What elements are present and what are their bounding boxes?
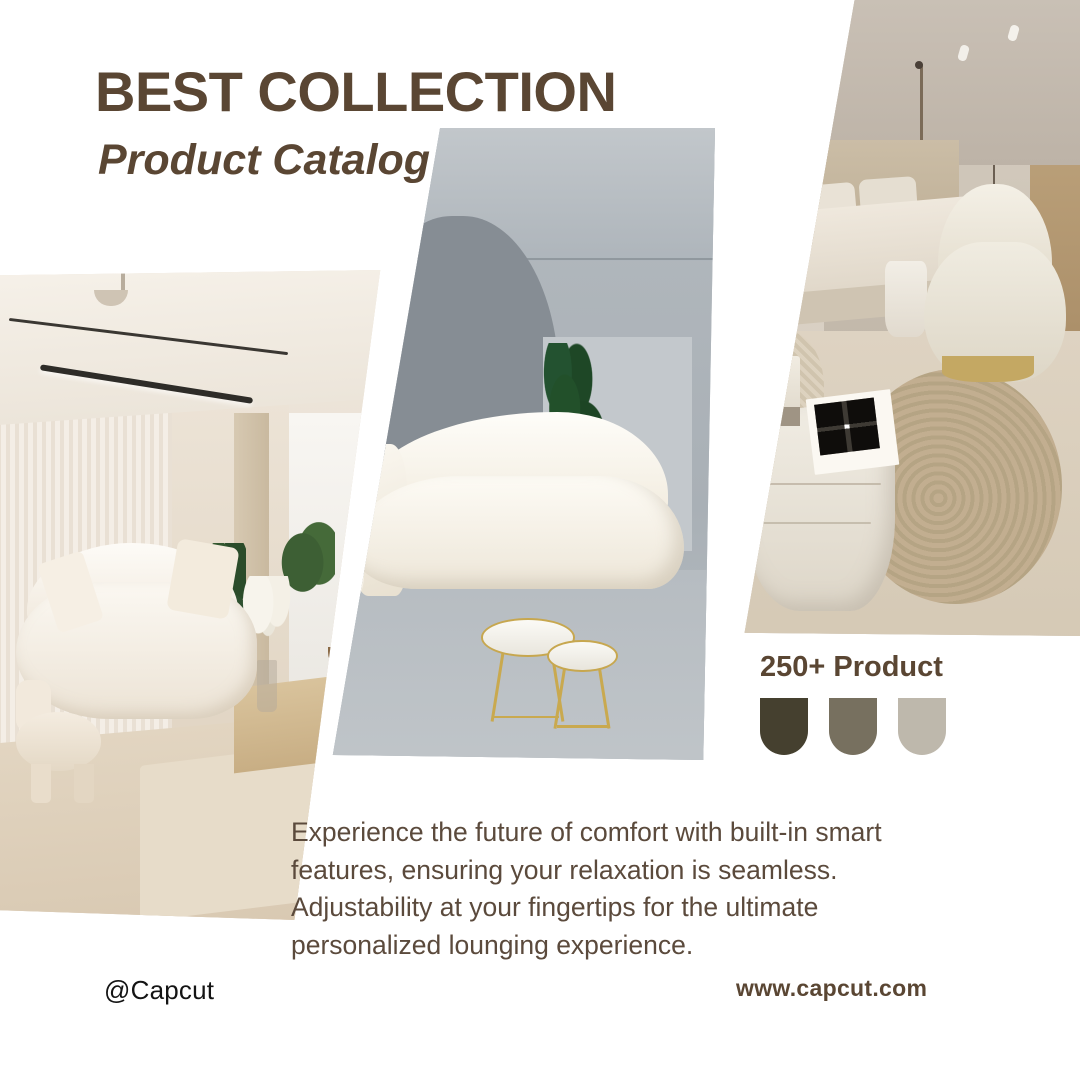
book-cover-grid — [814, 397, 880, 455]
color-swatch-dark-olive-brown[interactable] — [760, 698, 808, 755]
color-swatch-group — [760, 698, 946, 755]
color-swatch-warm-taupe[interactable] — [829, 698, 877, 755]
website-url[interactable]: www.capcut.com — [736, 975, 927, 1002]
vase-band — [771, 407, 799, 426]
gallery-image-bedroom — [725, 0, 1080, 636]
page-title: BEST COLLECTION — [95, 64, 616, 120]
page-subtitle: Product Catalog — [98, 137, 430, 184]
round-stool — [16, 712, 102, 771]
chair-base — [942, 356, 1034, 381]
marble-coffee-table-small — [547, 640, 617, 672]
studio-scene — [325, 128, 715, 760]
stone-texture-line — [757, 522, 871, 524]
pendant-rod — [121, 270, 125, 292]
pendant-mount — [915, 61, 923, 69]
gallery-image-studio-sofa — [325, 128, 715, 760]
table-base — [557, 725, 608, 728]
stool-leg — [31, 764, 51, 803]
description-paragraph: Experience the future of comfort with bu… — [291, 814, 956, 965]
social-handle: @Capcut — [104, 975, 214, 1006]
color-swatch-light-greige[interactable] — [898, 698, 946, 755]
curved-sofa — [352, 476, 684, 590]
floor — [325, 570, 715, 760]
table-base — [493, 716, 559, 719]
side-stool — [885, 261, 928, 337]
dried-bud — [792, 280, 802, 288]
ceiling — [0, 270, 390, 426]
cushion — [166, 538, 240, 619]
dried-branch — [781, 286, 792, 368]
bedroom-scene — [725, 0, 1080, 636]
glass-vase — [257, 660, 277, 712]
poster-canvas: BEST COLLECTION Product Catalog — [0, 0, 1080, 1080]
stool-leg — [74, 764, 94, 803]
product-count-label: 250+ Product — [760, 651, 943, 684]
